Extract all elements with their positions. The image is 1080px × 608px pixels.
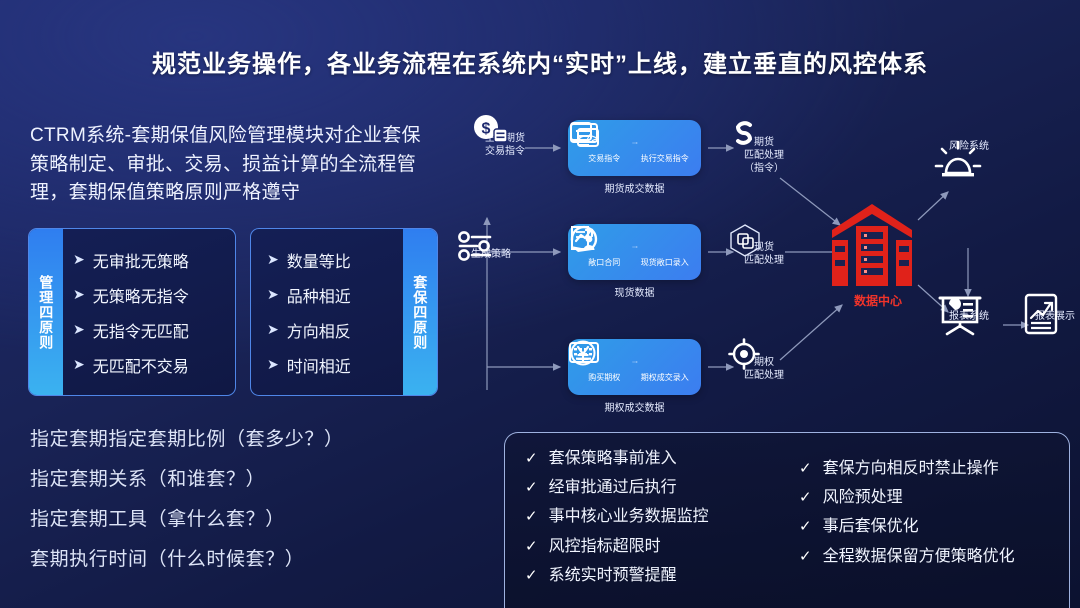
principle-item-label: 无匹配不交易 — [93, 353, 189, 377]
card-caption: 期权成交数据 — [568, 399, 701, 414]
arrow-right-icon — [624, 361, 646, 363]
card-label: 期权成交录入 — [637, 372, 693, 383]
principle-item: ➤ 数量等比 — [267, 244, 399, 276]
checklist-item-label: 经审批通过后执行 — [549, 476, 677, 499]
principle-item: ➤ 无策略无指令 — [73, 279, 231, 311]
question-line: 指定套期关系（和谁套？） — [30, 470, 344, 489]
chevron-right-icon: ➤ — [73, 356, 85, 373]
principle-item-label: 时间相近 — [287, 353, 351, 377]
card-caption: 期货成交数据 — [568, 180, 701, 195]
data-center-label: 数据中心 — [828, 292, 928, 309]
chevron-right-icon: ➤ — [73, 251, 85, 268]
principle-item: ➤ 无指令无匹配 — [73, 314, 231, 346]
check-icon: ✓ — [525, 505, 538, 528]
card-spot-data: 敞口合同 现货敞口录入 — [568, 224, 701, 280]
checklist-item: ✓ 风控指标超限时 — [525, 535, 777, 558]
card-half-right: 期权成交录入 — [637, 353, 693, 383]
checklist-item: ✓ 全程数据保留方便策略优化 — [799, 545, 1051, 568]
node-risk-system: 风险系统 — [934, 140, 1004, 176]
card-options-data: 购买期权 期权成交录入 — [568, 339, 701, 395]
chevron-right-icon: ➤ — [267, 356, 279, 373]
principle-item-label: 数量等比 — [287, 248, 351, 272]
card-label: 购买期权 — [576, 372, 632, 383]
node-report-system: 报表系统 — [934, 292, 1004, 323]
card-half-right: 现货敞口录入 — [637, 238, 693, 268]
checklist-item: ✓ 事中核心业务数据监控 — [525, 505, 777, 528]
question-line: 套期执行时间（什么时候套？） — [30, 550, 344, 569]
checklist-item-label: 风险预处理 — [823, 486, 903, 509]
checklist-item-label: 事后套保优化 — [823, 515, 919, 538]
node-data-center: 数据中心 — [828, 200, 928, 218]
intro-paragraph: CTRM系统-套期保值风险管理模块对企业套保策略制定、审批、交易、损益计算的全流… — [30, 122, 430, 208]
node-futures-matching: 期货匹配处理（指令） — [728, 118, 800, 175]
check-icon: ✓ — [525, 447, 538, 470]
checklist-item-label: 全程数据保留方便策略优化 — [823, 545, 1015, 568]
chevron-right-icon: ➤ — [73, 321, 85, 338]
checklist-column-right: ✓ 套保方向相反时禁止操作 ✓ 风险预处理 ✓ 事后套保优化 ✓ 全程数据保留方… — [777, 447, 1051, 608]
checklist-item: ✓ 事后套保优化 — [799, 515, 1051, 538]
principles-group: 管理四原则 ➤ 无审批无策略 ➤ 无策略无指令 ➤ 无指令无匹配 ➤ 无匹配不交… — [28, 228, 438, 396]
chevron-right-icon: ➤ — [267, 251, 279, 268]
principle-item: ➤ 品种相近 — [267, 279, 399, 311]
node-generate-futures-order: $ 生成期货交易指令 — [472, 114, 538, 158]
checklist-item: ✓ 经审批通过后执行 — [525, 476, 777, 499]
check-icon: ✓ — [525, 564, 538, 587]
check-icon: ✓ — [799, 545, 812, 568]
principle-item: ➤ 方向相反 — [267, 314, 399, 346]
principle-tab-label: 管理四原则 — [29, 229, 63, 395]
card-half-right: 执行交易指令 — [637, 134, 693, 164]
card-caption: 现货数据 — [568, 284, 701, 299]
principle-item-label: 方向相反 — [287, 318, 351, 342]
checklist-item-label: 事中核心业务数据监控 — [549, 505, 709, 528]
arrow-right-icon — [624, 246, 646, 248]
check-icon: ✓ — [799, 486, 812, 509]
check-icon: ✓ — [799, 457, 812, 480]
arrow-right-icon — [624, 142, 646, 144]
checklist-item: ✓ 套保方向相反时禁止操作 — [799, 457, 1051, 480]
checklist-item-label: 套保策略事前准入 — [549, 447, 677, 470]
check-icon: ✓ — [525, 535, 538, 558]
principle-item: ➤ 时间相近 — [267, 349, 399, 381]
principle-item-list: ➤ 数量等比 ➤ 品种相近 ➤ 方向相反 ➤ 时间相近 — [251, 229, 403, 395]
checklist-item-label: 风控指标超限时 — [549, 535, 661, 558]
node-generate-strategy: 生成策略 — [456, 230, 526, 261]
checklist-item-label: 系统实时预警提醒 — [549, 564, 677, 587]
chevron-right-icon: ➤ — [267, 321, 279, 338]
question-line: 指定套期指定套期比例（套多少？） — [30, 430, 344, 449]
principle-item-list: ➤ 无审批无策略 ➤ 无策略无指令 ➤ 无指令无匹配 ➤ 无匹配不交易 — [63, 229, 235, 395]
checklist-item: ✓ 风险预处理 — [799, 486, 1051, 509]
card-label: 现货敞口录入 — [637, 257, 693, 268]
card-label: 交易指令 — [576, 153, 632, 164]
checklist-item: ✓ 系统实时预警提醒 — [525, 564, 777, 587]
card-label: 敞口合同 — [576, 257, 632, 268]
principle-box-management: 管理四原则 ➤ 无审批无策略 ➤ 无策略无指令 ➤ 无指令无匹配 ➤ 无匹配不交… — [28, 228, 236, 396]
question-line: 指定套期工具（拿什么套？） — [30, 510, 344, 529]
question-list: 指定套期指定套期比例（套多少？） 指定套期关系（和谁套？） 指定套期工具（拿什么… — [30, 430, 344, 590]
checklist-item: ✓ 套保策略事前准入 — [525, 447, 777, 470]
node-options-matching: 期权匹配处理 — [728, 338, 800, 382]
checklist-item-label: 套保方向相反时禁止操作 — [823, 457, 999, 480]
principle-item: ➤ 无匹配不交易 — [73, 349, 231, 381]
card-futures-trade: </> 交易指令 执行交易指令 — [568, 120, 701, 176]
process-flow-diagram: $ 生成期货交易指令 生成策略 — [450, 100, 1080, 430]
chevron-right-icon: ➤ — [267, 286, 279, 303]
principle-box-hedging: ➤ 数量等比 ➤ 品种相近 ➤ 方向相反 ➤ 时间相近 套保四原则 — [250, 228, 438, 396]
card-label: 执行交易指令 — [637, 153, 693, 164]
check-icon: ✓ — [525, 476, 538, 499]
principle-item-label: 无策略无指令 — [93, 283, 189, 307]
check-icon: ✓ — [799, 515, 812, 538]
checklist-column-left: ✓ 套保策略事前准入 ✓ 经审批通过后执行 ✓ 事中核心业务数据监控 ✓ 风控指… — [525, 447, 777, 608]
principle-tab-label: 套保四原则 — [403, 229, 437, 395]
page-title: 规范业务操作，各业务流程在系统内“实时”上线，建立垂直的风控体系 — [0, 44, 1080, 79]
svg-text:$: $ — [482, 121, 491, 138]
principle-item: ➤ 无审批无策略 — [73, 244, 231, 276]
principle-item-label: 品种相近 — [287, 283, 351, 307]
principle-item-label: 无指令无匹配 — [93, 318, 189, 342]
principle-item-label: 无审批无策略 — [93, 248, 189, 272]
node-report-display: 报表展示 — [1020, 292, 1080, 323]
chevron-right-icon: ➤ — [73, 286, 85, 303]
node-spot-matching: 现货匹配处理 — [728, 223, 800, 267]
checklist-panel: ✓ 套保策略事前准入 ✓ 经审批通过后执行 ✓ 事中核心业务数据监控 ✓ 风控指… — [504, 432, 1070, 608]
